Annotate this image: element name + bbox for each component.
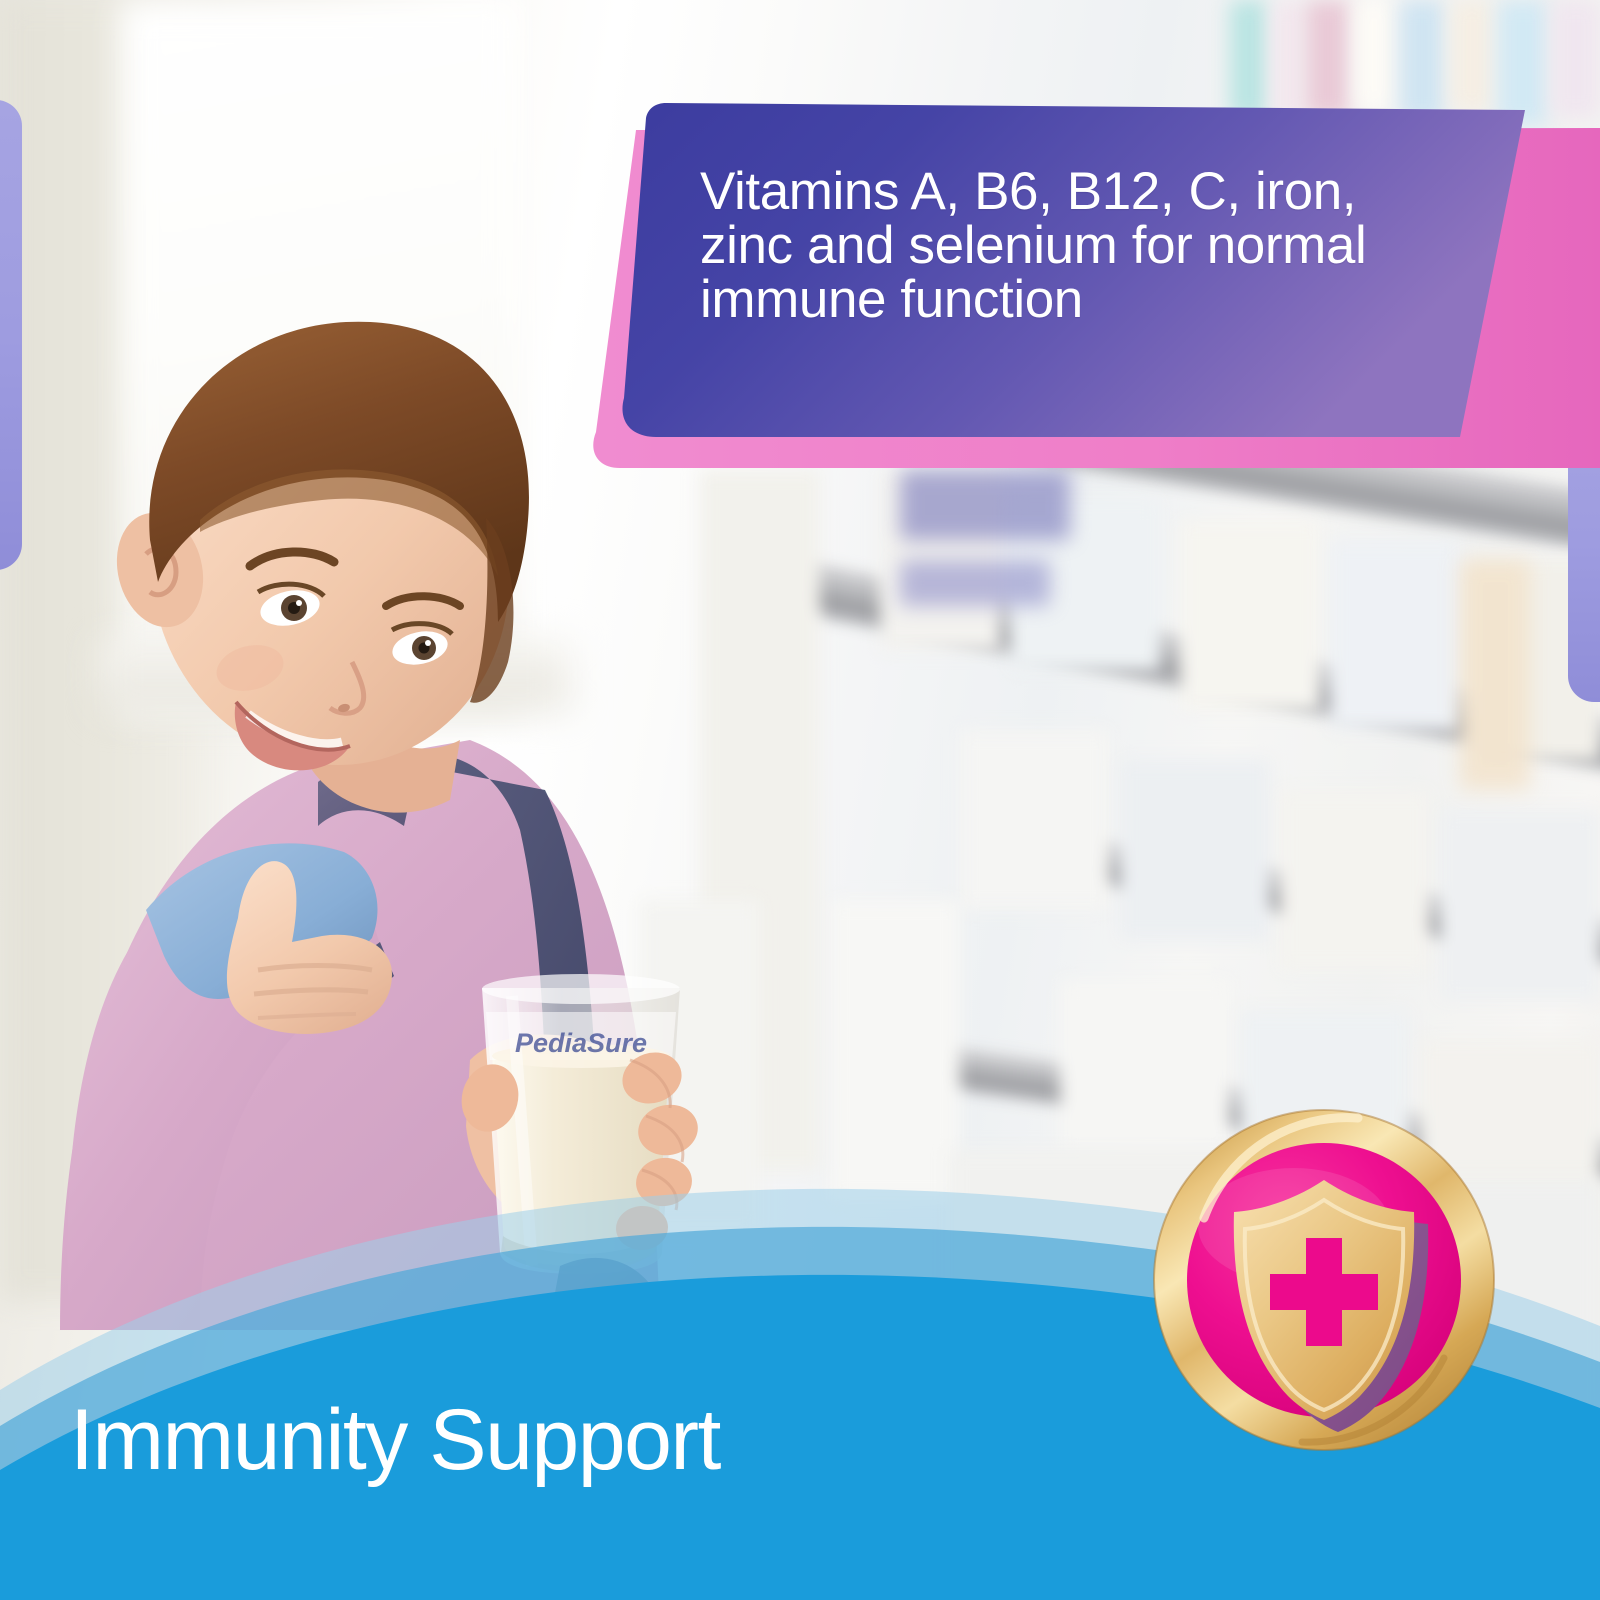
callout-banner: Vitamins A, B6, B12, C, iron, zinc and s…	[0, 0, 1600, 520]
page-title: Immunity Support	[70, 1392, 720, 1488]
callout-text: Vitamins A, B6, B12, C, iron, zinc and s…	[700, 165, 1440, 327]
immunity-shield-badge	[1152, 1108, 1496, 1452]
svg-text:PediaSure: PediaSure	[515, 1028, 647, 1058]
advertisement-canvas: PediaSure	[0, 0, 1600, 1600]
